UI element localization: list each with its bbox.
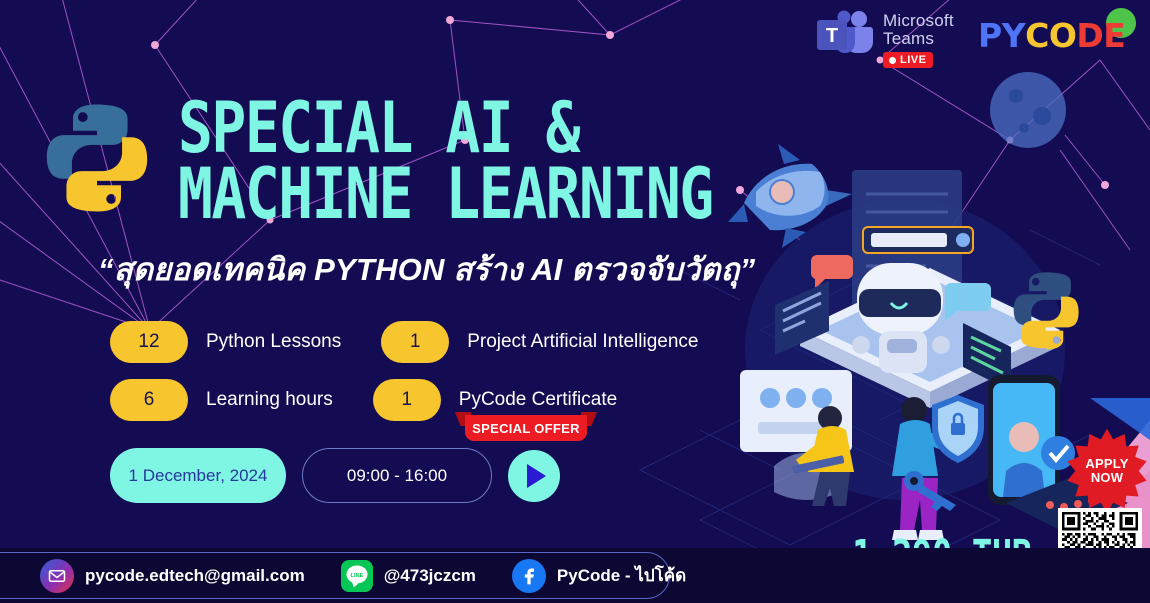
event-time-pill[interactable]: 09:00 - 16:00 xyxy=(302,448,492,503)
svg-text:T: T xyxy=(826,25,838,47)
subtitle: “สุดยอดเทคนิค PYTHON สร้าง AI ตรวจจับวัต… xyxy=(98,244,798,294)
pycode-letter-e: E xyxy=(1103,16,1125,55)
facebook-icon xyxy=(512,559,546,593)
microsoft-teams-logo: T Microsoft Teams LIVE xyxy=(815,8,954,69)
contact-email[interactable]: pycode.edtech@gmail.com xyxy=(40,559,305,593)
contact-facebook[interactable]: PyCode - ไปโค้ด xyxy=(512,559,686,593)
schedule-row: 1 December, 2024 09:00 - 16:00 xyxy=(110,448,560,503)
apply-line2: NOW xyxy=(1085,471,1128,485)
live-badge: LIVE xyxy=(883,52,933,68)
feature-item: 1 Project Artificial Intelligence xyxy=(381,321,698,363)
promo-banner: T Microsoft Teams LIVE PYCODE xyxy=(0,0,1150,603)
apply-line1: APPLY xyxy=(1085,457,1128,471)
apply-now-badge[interactable]: APPLY NOW xyxy=(1068,432,1146,510)
footer-contact-bar: pycode.edtech@gmail.com LINE @473jczcm P… xyxy=(0,548,1150,603)
email-icon xyxy=(40,559,74,593)
contact-line-text: @473jczcm xyxy=(384,566,476,586)
microsoft-teams-icon: T xyxy=(815,8,877,56)
feature-count: 12 xyxy=(110,321,188,363)
play-icon xyxy=(527,464,546,488)
contact-email-text: pycode.edtech@gmail.com xyxy=(85,566,305,586)
feature-item: 12 Python Lessons xyxy=(110,321,341,363)
pycode-letter-o: O xyxy=(1049,16,1077,55)
live-label: LIVE xyxy=(900,54,926,66)
python-logo-small-icon xyxy=(1014,272,1079,349)
pycode-letter-c: C xyxy=(1025,16,1049,55)
feature-row: 12 Python Lessons 1 Project Artificial I… xyxy=(110,313,698,371)
teams-label-line1: Microsoft xyxy=(883,12,954,30)
feature-label: PyCode Certificate xyxy=(459,389,617,411)
special-offer-ribbon: SPECIAL OFFER xyxy=(455,412,597,442)
feature-item: 6 Learning hours xyxy=(110,379,333,421)
live-dot-icon xyxy=(889,57,896,64)
feature-count: 1 xyxy=(381,321,449,363)
feature-count: 1 xyxy=(373,379,441,421)
feature-count: 6 xyxy=(110,379,188,421)
contact-facebook-text: PyCode - ไปโค้ด xyxy=(557,562,686,589)
robot-icon xyxy=(775,227,1011,391)
feature-row: 6 Learning hours 1 PyCode Certificate xyxy=(110,371,698,429)
event-date-pill[interactable]: 1 December, 2024 xyxy=(110,448,286,503)
feature-label: Project Artificial Intelligence xyxy=(467,331,698,353)
feature-label: Learning hours xyxy=(206,389,333,411)
python-logo-icon xyxy=(32,98,162,218)
line-icon: LINE xyxy=(341,560,373,592)
play-button[interactable] xyxy=(508,450,560,502)
pycode-letter-d: D xyxy=(1076,16,1103,55)
planet-icon xyxy=(990,72,1066,148)
pycode-logo: PYCODE xyxy=(978,16,1125,55)
pycode-letter-y: Y xyxy=(1002,16,1025,55)
document-sheet xyxy=(852,170,962,318)
feature-label: Python Lessons xyxy=(206,331,341,353)
teams-label-line2: Teams xyxy=(883,30,954,48)
contact-line[interactable]: LINE @473jczcm xyxy=(341,560,476,592)
feature-list: 12 Python Lessons 1 Project Artificial I… xyxy=(110,313,698,429)
special-offer-label: SPECIAL OFFER xyxy=(465,415,587,441)
svg-text:LINE: LINE xyxy=(350,572,363,578)
page-title: SPECIAL AI & MACHINE LEARNING xyxy=(178,96,818,228)
person-with-laptop xyxy=(740,370,854,506)
pycode-letter-p: P xyxy=(978,16,1002,55)
tablet-platform xyxy=(800,268,1060,408)
person-with-phone xyxy=(892,397,956,540)
